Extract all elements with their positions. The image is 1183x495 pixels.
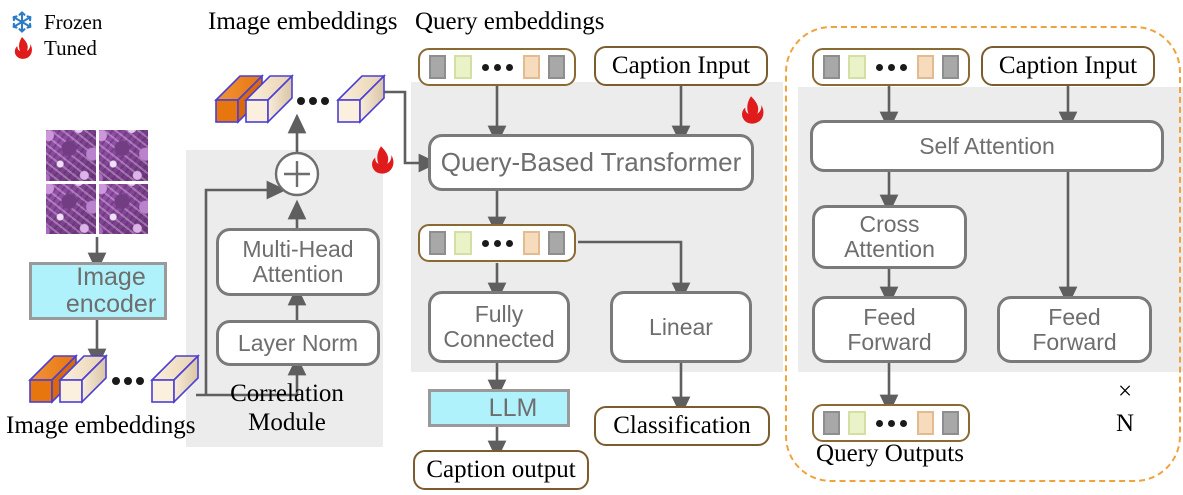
legend-item-frozen: Frozen (44, 10, 102, 35)
correlation-module-label-line1: Correlation (222, 380, 352, 408)
llm-box[interactable]: LLM (428, 389, 570, 427)
caption-input-box-right[interactable]: Caption Input (981, 46, 1155, 86)
query-embeddings-token-strip[interactable] (418, 48, 576, 86)
histology-patch (99, 130, 149, 181)
query-outputs-label: Query Outputs (800, 440, 980, 468)
histology-patch (46, 184, 96, 235)
repeat-count-n: N (1110, 410, 1140, 438)
output-token-gray (429, 231, 446, 255)
flame-icon (15, 37, 32, 59)
classification-box[interactable]: Classification (594, 406, 770, 446)
layer-norm-box[interactable]: Layer Norm (216, 320, 380, 366)
cross-attention-label-line1: Cross (859, 212, 919, 237)
self-attention-box[interactable]: Self Attention (810, 120, 1164, 172)
linear-box[interactable]: Linear (610, 291, 752, 363)
query-token-gray (548, 55, 565, 79)
histology-patch (46, 130, 96, 181)
caption-input-box-middle[interactable]: Caption Input (594, 46, 768, 86)
feed-forward-left-line1: Feed (863, 305, 915, 330)
self-attention-label: Self Attention (919, 134, 1055, 159)
cross-attention-box[interactable]: Cross Attention (812, 205, 967, 269)
query-output-token-gray (823, 411, 840, 435)
llm-label: LLM (489, 395, 538, 422)
detail-token-gray (823, 55, 840, 79)
query-embeddings-label: Query embeddings (415, 8, 605, 36)
classification-label: Classification (613, 412, 750, 440)
ellipsis-icon (480, 240, 515, 247)
detail-query-token-strip[interactable] (812, 48, 970, 86)
query-token-lime (454, 55, 471, 79)
ellipsis-icon (480, 64, 515, 71)
query-outputs-token-strip[interactable] (812, 404, 970, 442)
histology-patch (99, 184, 149, 235)
mha-label-line1: Multi-Head (242, 237, 353, 262)
caption-input-label: Caption Input (612, 52, 750, 80)
multi-head-attention-box[interactable]: Multi-Head Attention (216, 228, 380, 296)
correlation-module-label-line2: Module (222, 409, 352, 437)
snowflake-icon (14, 13, 31, 32)
image-encoder-label: Image encoder (58, 264, 164, 318)
legend-label-frozen: Frozen (44, 10, 102, 35)
legend-item-tuned: Tuned (44, 36, 97, 61)
feed-forward-right-line2: Forward (1032, 330, 1116, 355)
ellipsis-icon (874, 420, 909, 427)
linear-label: Linear (649, 315, 713, 340)
layer-norm-label: Layer Norm (238, 331, 358, 356)
image-encoder-box[interactable]: Image encoder (29, 262, 167, 320)
detail-token-gray (942, 55, 959, 79)
output-token-lime (454, 231, 471, 255)
cross-attention-label-line2: Attention (844, 237, 935, 262)
output-token-gray (548, 231, 565, 255)
output-token-peach (523, 231, 540, 255)
caption-input-label-right: Caption Input (999, 52, 1137, 80)
query-based-transformer-label: Query-Based Transformer (441, 148, 742, 176)
mha-label-line2: Attention (253, 262, 344, 287)
feed-forward-right-box[interactable]: Feed Forward (997, 296, 1152, 363)
query-token-gray (429, 55, 446, 79)
query-output-token-lime (848, 411, 865, 435)
image-embeddings-bottom-label: Image embeddings (6, 412, 196, 440)
detail-token-lime (848, 55, 865, 79)
detail-token-peach (917, 55, 934, 79)
repeat-times-symbol: × (1110, 378, 1140, 406)
fully-connected-label-line2: Connected (443, 327, 554, 352)
fully-connected-box[interactable]: Fully Connected (428, 291, 570, 363)
image-embeddings-bottom-bars (30, 356, 198, 402)
query-output-token-gray (942, 411, 959, 435)
image-embeddings-top-label: Image embeddings (208, 8, 398, 36)
legend-label-tuned: Tuned (44, 36, 97, 61)
transformer-output-token-strip[interactable] (418, 224, 576, 262)
caption-output-box[interactable]: Caption output (413, 450, 589, 490)
feed-forward-left-box[interactable]: Feed Forward (812, 296, 967, 363)
histology-input-image (46, 130, 148, 234)
feed-forward-left-line2: Forward (847, 330, 931, 355)
fully-connected-label-line1: Fully (475, 302, 524, 327)
feed-forward-right-line1: Feed (1048, 305, 1100, 330)
image-embeddings-top-bars (216, 76, 384, 122)
caption-output-label: Caption output (426, 456, 575, 484)
query-output-token-peach (917, 411, 934, 435)
query-token-peach (523, 55, 540, 79)
query-based-transformer-box[interactable]: Query-Based Transformer (428, 134, 754, 191)
ellipsis-icon (874, 64, 909, 71)
